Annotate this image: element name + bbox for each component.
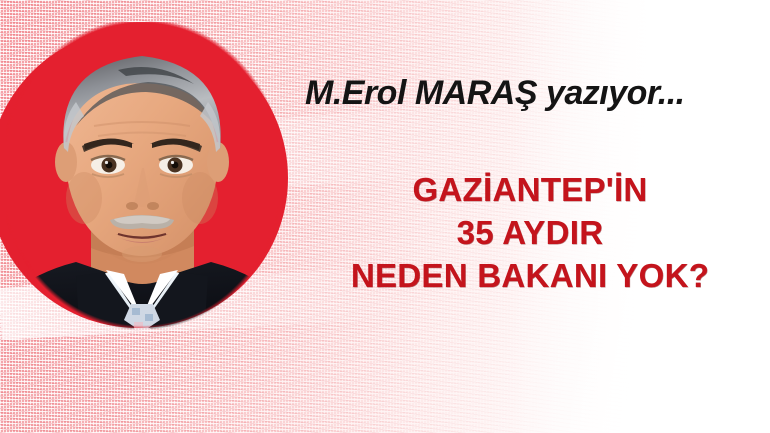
article-header-banner: M.Erol MARAŞ yazıyor... GAZİANTEP'İN 35 …	[0, 0, 770, 433]
headline-line-2: 35 AYDIR	[300, 211, 760, 254]
headline: GAZİANTEP'İN 35 AYDIR NEDEN BAKANI YOK?	[300, 168, 760, 297]
author-byline: M.Erol MARAŞ yazıyor...	[305, 74, 685, 113]
author-portrait	[6, 22, 278, 338]
headline-line-3: NEDEN BAKANI YOK?	[300, 254, 760, 297]
headline-line-1: GAZİANTEP'İN	[300, 168, 760, 211]
